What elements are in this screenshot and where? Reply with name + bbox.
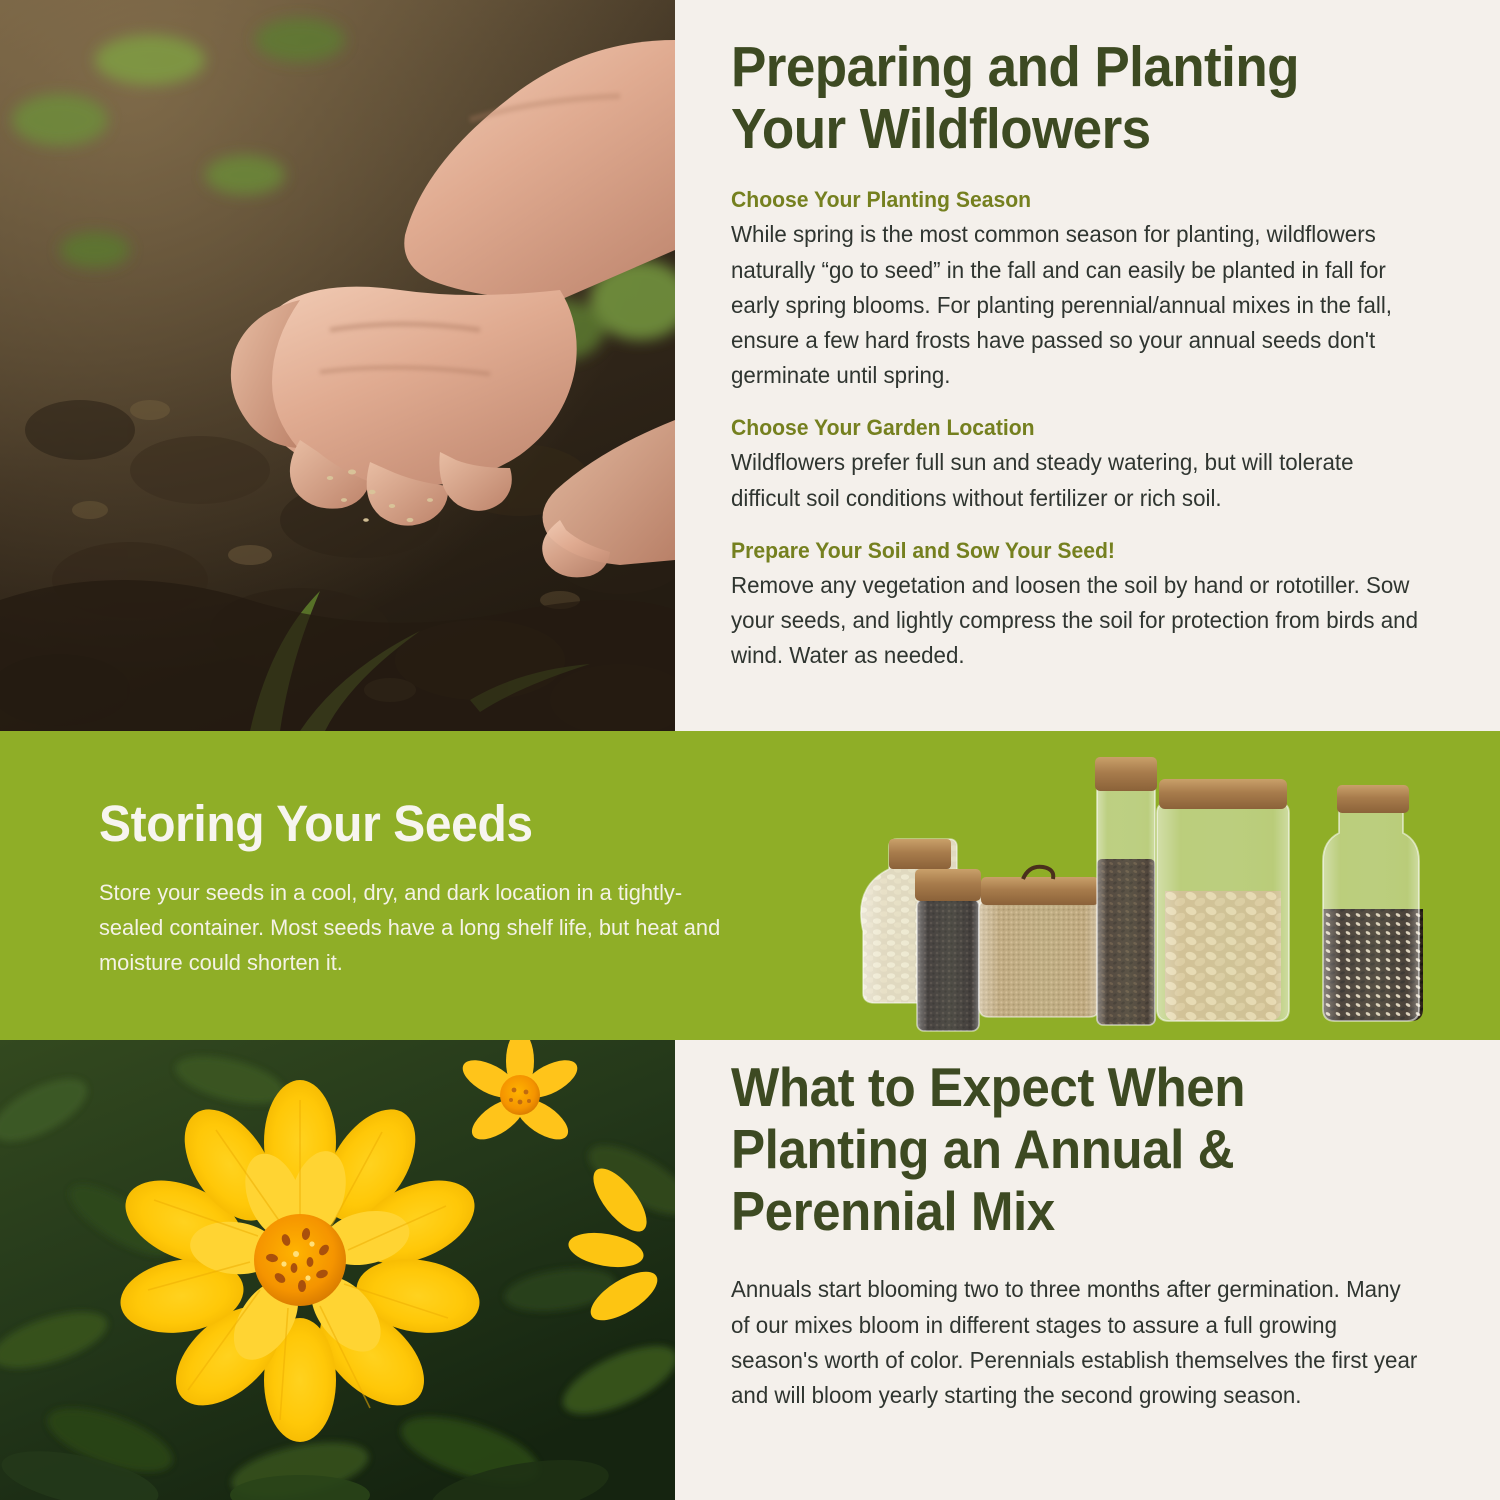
body-planting-season: While spring is the most common season f… (731, 217, 1424, 393)
storing-seeds-title: Storing Your Seeds (99, 797, 710, 851)
planting-text-column: Preparing and Planting Your Wildflowers … (731, 0, 1500, 731)
what-to-expect-title: What to Expect When Planting an Annual &… (731, 1056, 1395, 1242)
jar-sunflower-seeds (1323, 785, 1423, 1021)
section-storing-seeds: Storing Your Seeds Store your seeds in a… (0, 731, 1500, 1040)
storing-seeds-text-block: Storing Your Seeds Store your seeds in a… (99, 797, 749, 980)
yellow-coreopsis-flower-image (0, 1040, 675, 1500)
jar-pumpkin-seeds (1157, 779, 1289, 1021)
jar-sandy-seeds (979, 867, 1099, 1017)
what-to-expect-text-column: What to Expect When Planting an Annual &… (731, 1040, 1500, 1500)
storing-seeds-body: Store your seeds in a cool, dry, and dar… (99, 875, 730, 980)
jar-tall-dark-seeds (1095, 757, 1157, 1025)
glass-jars-of-seeds-image (845, 741, 1465, 1036)
seed-jars-illustration (845, 741, 1465, 1036)
section-preparing-planting: Preparing and Planting Your Wildflowers … (0, 0, 1500, 731)
subheading-planting-season: Choose Your Planting Season (731, 186, 1402, 214)
subheading-prepare-soil: Prepare Your Soil and Sow Your Seed! (731, 537, 1402, 565)
soil-photo-illustration (0, 0, 675, 731)
body-garden-location: Wildflowers prefer full sun and steady w… (731, 445, 1424, 515)
flower-photo-illustration (0, 1040, 675, 1500)
what-to-expect-body: Annuals start blooming two to three mont… (731, 1272, 1424, 1413)
page-title: Preparing and Planting Your Wildflowers (731, 36, 1395, 160)
hands-sowing-seeds-in-soil-image (0, 0, 675, 731)
jar-black-seeds (915, 869, 981, 1031)
body-prepare-soil: Remove any vegetation and loosen the soi… (731, 568, 1424, 674)
subheading-garden-location: Choose Your Garden Location (731, 414, 1402, 442)
infographic-page: Preparing and Planting Your Wildflowers … (0, 0, 1500, 1500)
